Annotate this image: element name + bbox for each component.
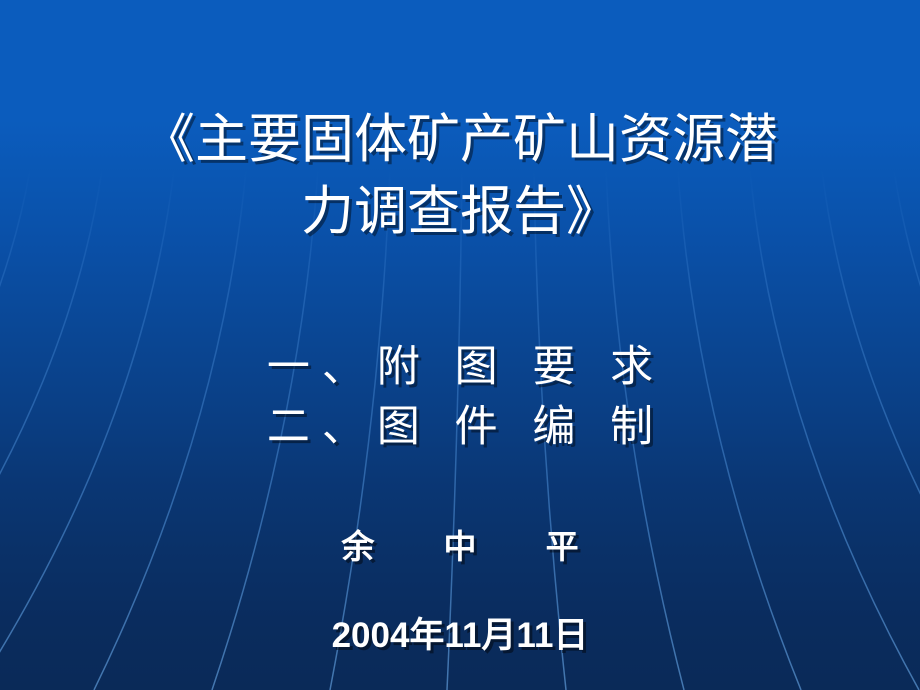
author-name: 余 中 平 — [0, 530, 920, 563]
slide-title-line-1: 《主要固体矿产矿山资源潜 — [0, 104, 920, 176]
slide-title: 《主要固体矿产矿山资源潜 力调查报告》 — [0, 104, 920, 248]
presentation-slide: 《主要固体矿产矿山资源潜 力调查报告》 一、附 图 要 求 二、图 件 编 制 … — [0, 0, 920, 690]
slide-title-line-2: 力调查报告》 — [0, 176, 920, 248]
agenda-list: 一、附 图 要 求 二、图 件 编 制 — [0, 338, 920, 458]
agenda-item-1: 一、附 图 要 求 — [0, 338, 920, 398]
agenda-item-2: 二、图 件 编 制 — [0, 398, 920, 458]
presentation-date: 2004年11月11日 — [0, 618, 920, 653]
